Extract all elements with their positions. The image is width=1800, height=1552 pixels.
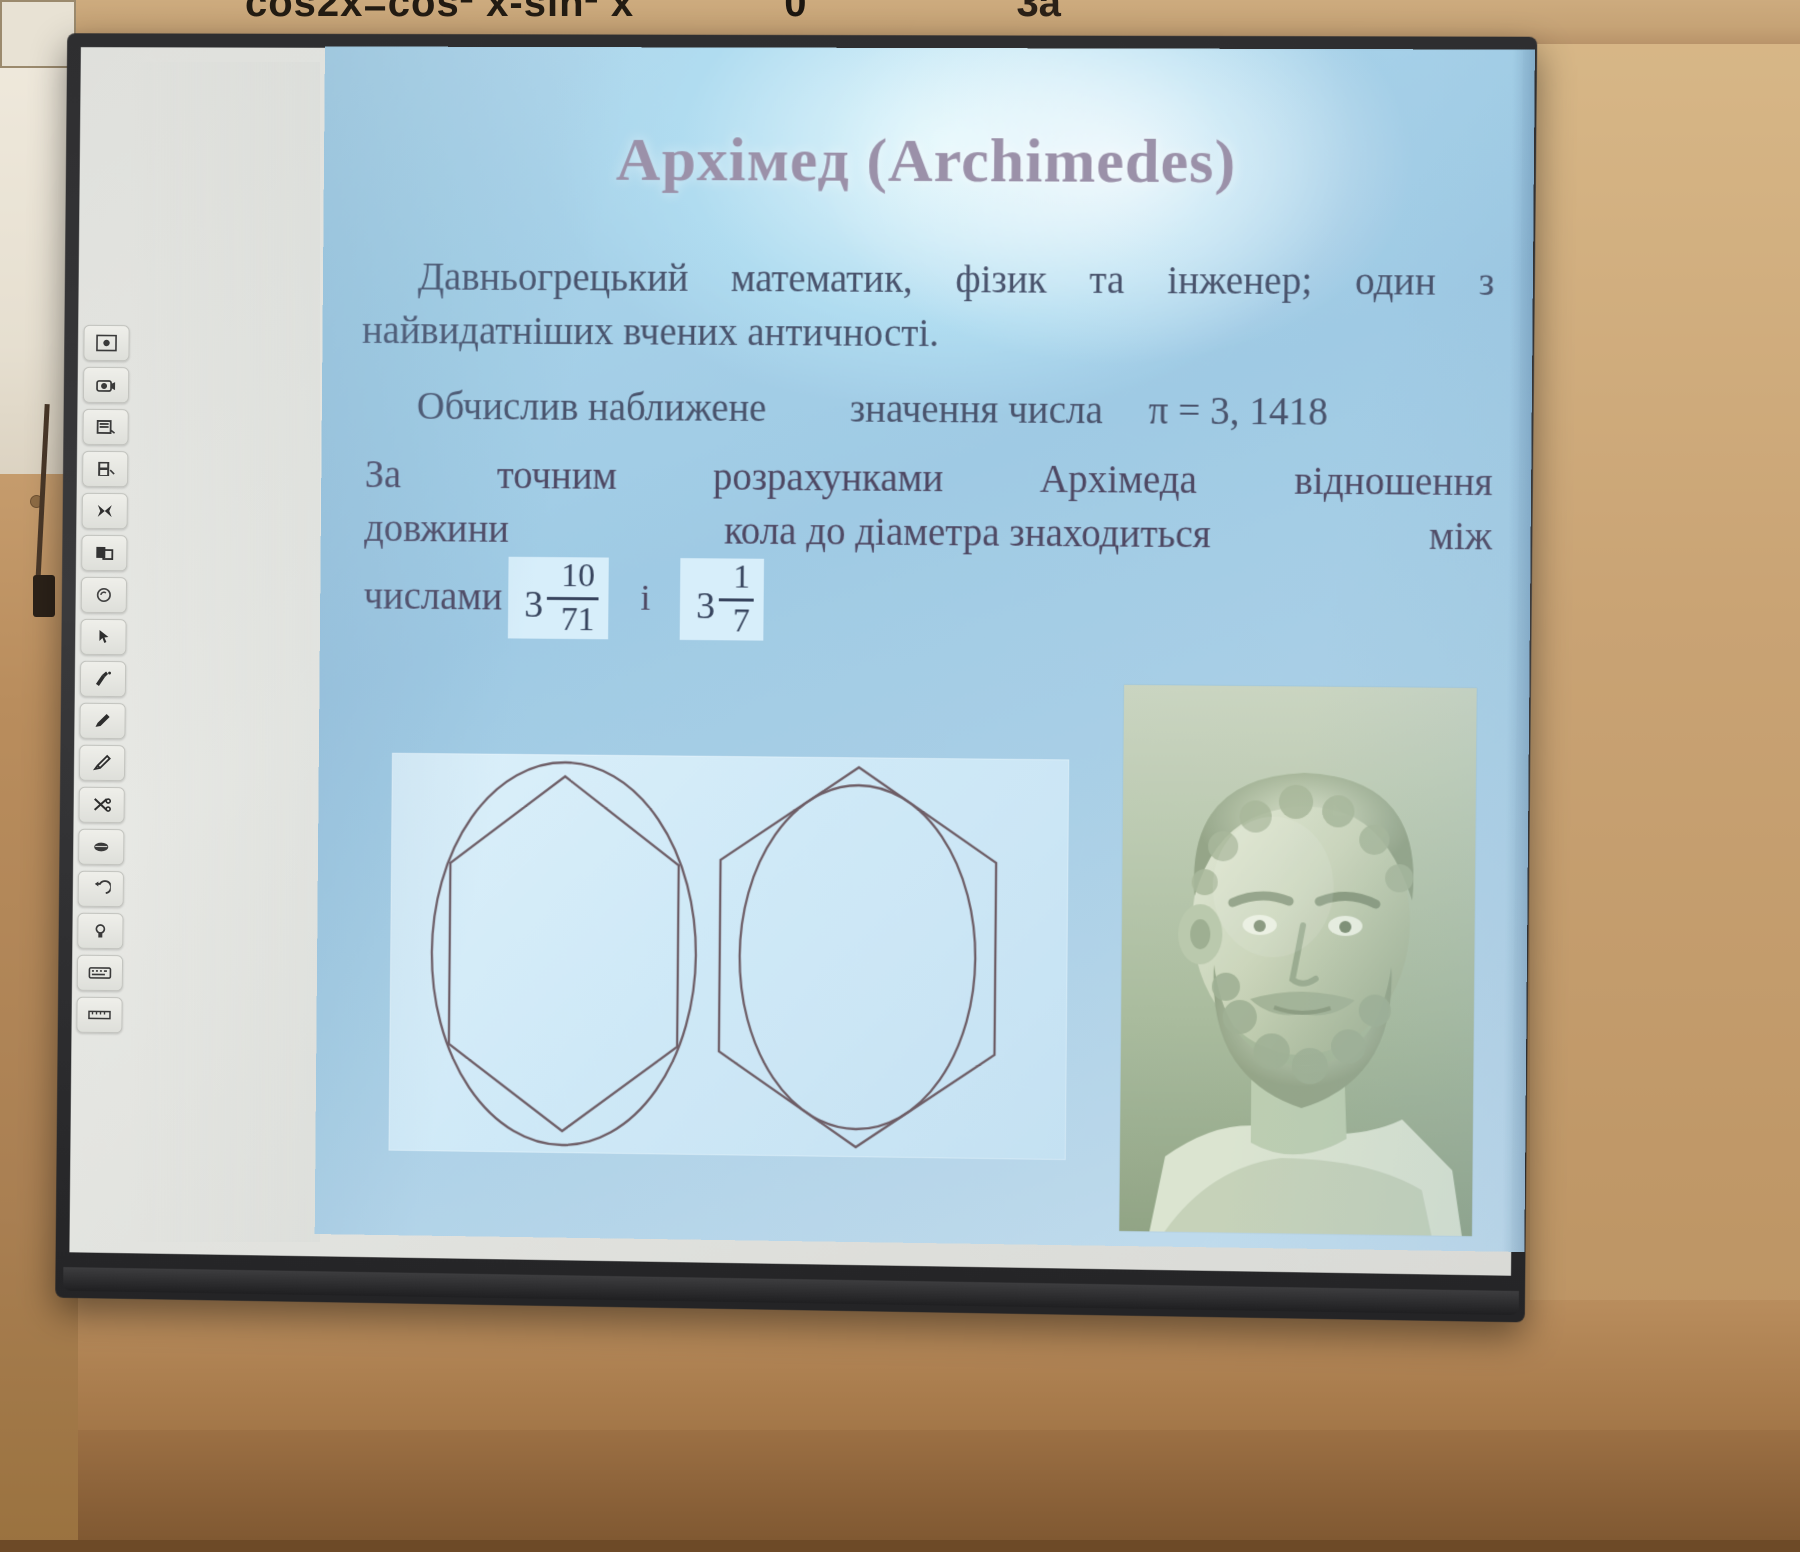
fraction-2: 1 7 bbox=[719, 560, 755, 638]
magic-wand-icon[interactable] bbox=[82, 493, 128, 529]
ratio-line-2: довжини кола до діаметра знаходиться між bbox=[354, 502, 1492, 564]
screen-capture-icon[interactable] bbox=[83, 325, 129, 361]
undo-icon[interactable] bbox=[78, 871, 124, 907]
pi-text-a: Обчислив наближене bbox=[417, 385, 767, 430]
archimedes-bust-photo bbox=[1119, 685, 1476, 1236]
circumscribed-hexagon-right bbox=[718, 766, 997, 1149]
chalk-formula: cos2x=cos² x-sin² x bbox=[245, 0, 634, 26]
pointer-icon[interactable] bbox=[80, 619, 126, 655]
bust-illustration bbox=[1119, 685, 1476, 1236]
power-plug bbox=[33, 575, 55, 617]
fraction-1-whole: 3 bbox=[514, 579, 543, 637]
fraction-2-numerator: 1 bbox=[719, 560, 754, 595]
ratio-numbers-label: числами bbox=[354, 570, 503, 625]
pi-text-b: значення числа bbox=[850, 387, 1104, 432]
paragraph-intro: Давньогрецький математик, фізик та інжен… bbox=[344, 250, 1517, 364]
fraction-1-denominator: 71 bbox=[547, 603, 599, 638]
copy-icon[interactable] bbox=[81, 535, 127, 571]
pi-symbol: π bbox=[1148, 389, 1168, 432]
hexagon-circle-svg bbox=[389, 753, 1070, 1160]
page-icon[interactable] bbox=[82, 409, 128, 445]
paragraph-ratio: За точним розрахунками Архімеда відношен… bbox=[342, 449, 1516, 648]
eraser-icon[interactable] bbox=[78, 829, 124, 865]
ratio-line-3: числами 3 10 71 і 3 1 bbox=[353, 556, 1492, 648]
floor-line bbox=[0, 1540, 1800, 1552]
conjunction: і bbox=[630, 574, 650, 624]
slide-body: Давньогрецький математик, фізик та інжен… bbox=[342, 250, 1517, 647]
ruler-icon[interactable] bbox=[76, 997, 122, 1033]
mixed-fraction-lower: 3 10 71 bbox=[508, 557, 609, 640]
pi-equation: π = 3, 1418 bbox=[1148, 389, 1328, 433]
pencil-icon[interactable] bbox=[79, 745, 125, 781]
pi-value: 3, 1418 bbox=[1210, 389, 1328, 433]
fraction-1: 10 71 bbox=[547, 559, 599, 637]
projected-slide: Архімед (Archimedes) Давньогрецький мате… bbox=[315, 46, 1535, 1252]
fraction-2-bar bbox=[719, 598, 754, 601]
pen-icon[interactable] bbox=[79, 703, 125, 739]
ratio-w5: відношення bbox=[1284, 455, 1493, 511]
hexagon-circle-figure bbox=[389, 753, 1070, 1160]
ratio-line-1: За точним розрахунками Архімеда відношен… bbox=[355, 449, 1493, 511]
camera-icon[interactable] bbox=[83, 367, 129, 403]
scissors-icon[interactable] bbox=[78, 787, 124, 823]
chalk-zero: 0 bbox=[784, 0, 806, 26]
ratio-w1: За bbox=[355, 449, 402, 503]
ratio-w4: Архімеда bbox=[1030, 453, 1198, 508]
circle-right bbox=[738, 784, 977, 1131]
chalk-3a: 3a bbox=[1016, 0, 1061, 26]
ratio-w8: між bbox=[1419, 510, 1493, 565]
mixed-fraction-upper: 3 1 7 bbox=[680, 558, 764, 641]
inscribed-hexagon-left bbox=[448, 775, 679, 1132]
highlighter-icon[interactable] bbox=[80, 661, 126, 697]
ratio-w3: розрахунками bbox=[703, 451, 944, 506]
fraction-2-whole: 3 bbox=[686, 580, 715, 639]
ratio-w7: кола до діаметра знаходиться bbox=[714, 505, 1211, 563]
ratio-w2: точним bbox=[487, 450, 618, 505]
page-title: Архімед (Archimedes) bbox=[324, 124, 1535, 200]
spotlight-icon[interactable] bbox=[81, 577, 127, 613]
fraction-1-numerator: 10 bbox=[547, 559, 599, 594]
classroom-scene: cos2x=cos² x-sin² x 0 3a bbox=[0, 0, 1800, 1552]
fraction-2-denominator: 7 bbox=[719, 604, 754, 639]
fraction-1-bar bbox=[547, 597, 599, 600]
circle-left bbox=[430, 761, 697, 1147]
keyboard-icon[interactable] bbox=[77, 955, 123, 991]
paragraph-pi: Обчислив наближене значення числа π = 3,… bbox=[343, 379, 1515, 440]
wall-bottom-lower bbox=[0, 1430, 1800, 1552]
ratio-w6: довжини bbox=[354, 502, 509, 557]
chalkboard-writing: cos2x=cos² x-sin² x 0 3a bbox=[0, 0, 1800, 30]
whiteboard-toolbar[interactable] bbox=[76, 325, 131, 1033]
save-icon[interactable] bbox=[82, 451, 128, 487]
pi-equals: = bbox=[1178, 389, 1200, 432]
lamp-icon[interactable] bbox=[77, 913, 123, 949]
